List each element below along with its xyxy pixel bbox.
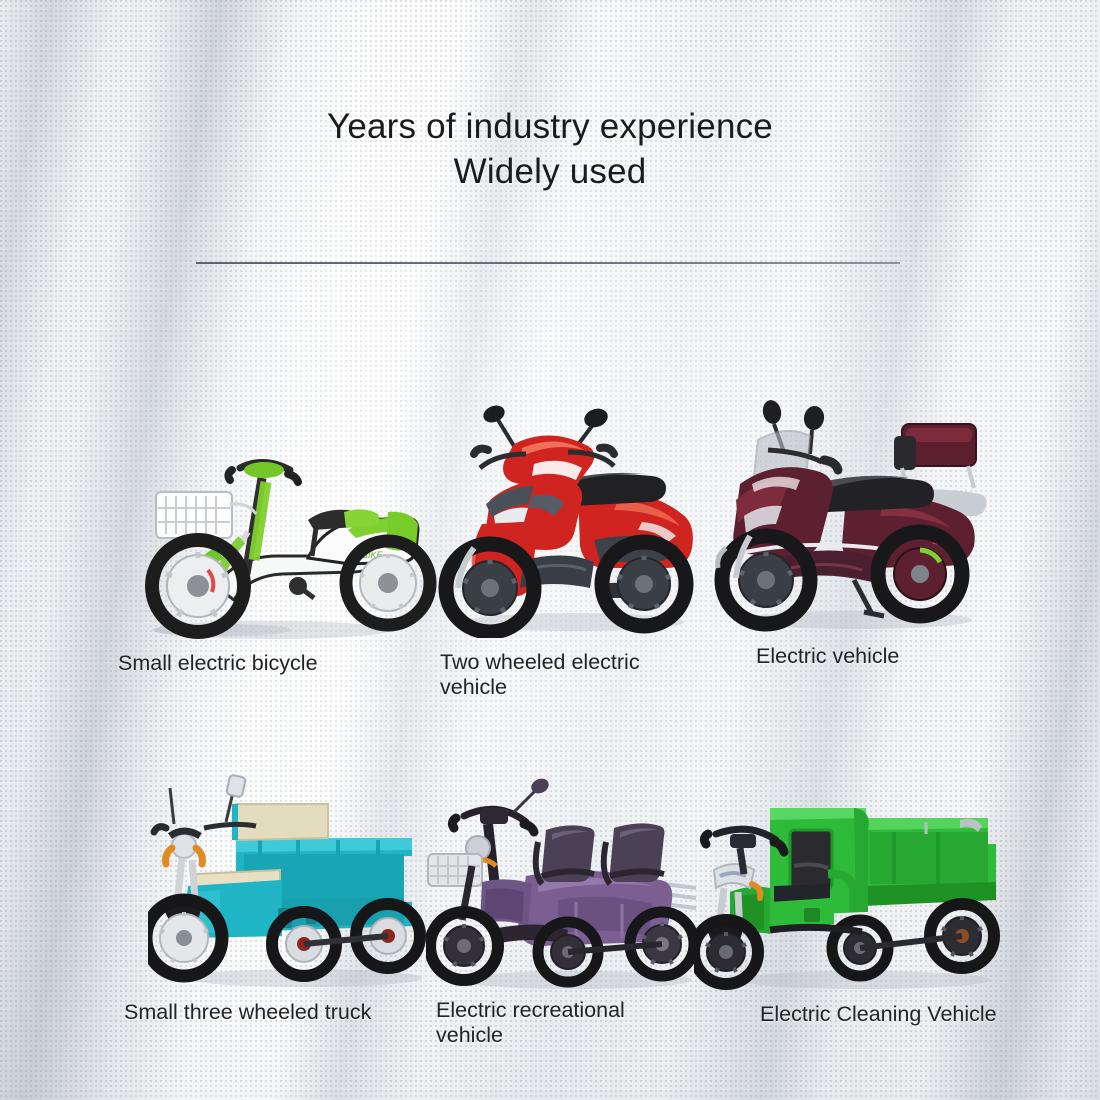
- electric-cleaning-vehicle-image: [694, 782, 1014, 992]
- product-card-small-electric-bicycle[interactable]: BIKE: [112, 408, 442, 643]
- page-title: Years of industry experience Widely used: [0, 104, 1100, 194]
- poster-page: Years of industry experience Widely used…: [0, 0, 1100, 1100]
- product-caption-electric-cleaning-vehicle: Electric Cleaning Vehicle: [760, 1002, 1090, 1027]
- two-wheeled-electric-vehicle-image: [428, 388, 718, 638]
- product-card-two-wheeled-electric-vehicle[interactable]: Two wheeled electric vehicle: [428, 388, 718, 638]
- header-divider: [196, 262, 900, 264]
- product-caption-small-three-wheeled-truck: Small three wheeled truck: [124, 1000, 454, 1025]
- product-card-electric-recreational-vehicle[interactable]: Electric recreational vehicle: [426, 772, 716, 992]
- product-card-small-three-wheeled-truck[interactable]: Small three wheeled truck: [148, 762, 448, 992]
- product-card-electric-cleaning-vehicle[interactable]: Electric Cleaning Vehicle: [694, 782, 1014, 992]
- product-caption-two-wheeled-electric-vehicle: Two wheeled electric vehicle: [440, 650, 690, 700]
- product-caption-electric-recreational-vehicle: Electric recreational vehicle: [436, 998, 686, 1048]
- small-electric-bicycle-image: BIKE: [112, 408, 442, 643]
- product-caption-electric-vehicle: Electric vehicle: [756, 644, 1086, 669]
- product-caption-small-electric-bicycle: Small electric bicycle: [118, 651, 448, 676]
- electric-recreational-vehicle-image: [426, 772, 716, 992]
- small-three-wheeled-truck-image: [148, 762, 448, 992]
- electric-vehicle-image: [706, 388, 1006, 638]
- product-card-electric-vehicle[interactable]: Electric vehicle: [706, 388, 1006, 638]
